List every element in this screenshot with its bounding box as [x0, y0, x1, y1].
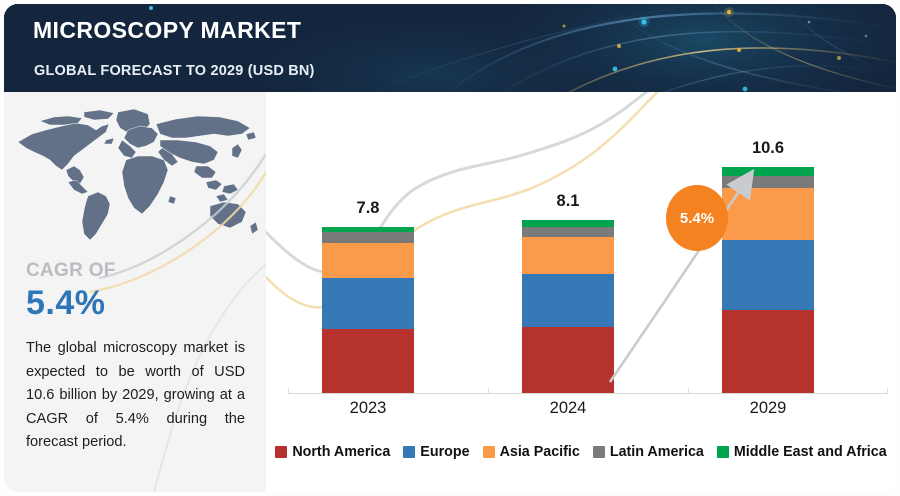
growth-arrow-icon	[266, 92, 896, 492]
legend-swatch-icon	[717, 446, 729, 458]
legend-label: Middle East and Africa	[734, 444, 887, 460]
legend-swatch-icon	[275, 446, 287, 458]
page-title: MICROSCOPY MARKET	[33, 17, 301, 44]
legend-swatch-icon	[403, 446, 415, 458]
sidebar-panel: CAGR OF 5.4% The global microscopy marke…	[4, 92, 266, 492]
page-subtitle: GLOBAL FORECAST TO 2029 (USD BN)	[34, 63, 315, 79]
legend-swatch-icon	[593, 446, 605, 458]
sidebar-description: The global microscopy market is expected…	[26, 337, 245, 455]
cagr-caption: CAGR OF	[26, 260, 116, 282]
chart-legend: North AmericaEuropeAsia PacificLatin Ame…	[266, 444, 896, 460]
infographic-page: MICROSCOPY MARKET GLOBAL FORECAST TO 202…	[0, 0, 900, 496]
legend-item-middle-east-and-africa[interactable]: Middle East and Africa	[717, 444, 887, 460]
cagr-badge: 5.4%	[666, 185, 728, 251]
legend-label: Europe	[420, 444, 469, 460]
world-map-icon	[10, 104, 262, 244]
legend-label: Latin America	[610, 444, 704, 460]
legend-item-north-america[interactable]: North America	[275, 444, 390, 460]
legend-item-asia-pacific[interactable]: Asia Pacific	[483, 444, 580, 460]
chart-panel: 7.88.110.6 202320242029 5.4% North Ameri…	[266, 92, 896, 492]
header-banner: MICROSCOPY MARKET GLOBAL FORECAST TO 202…	[4, 4, 896, 92]
legend-swatch-icon	[483, 446, 495, 458]
legend-item-latin-america[interactable]: Latin America	[593, 444, 704, 460]
legend-label: North America	[292, 444, 390, 460]
cagr-badge-label: 5.4%	[680, 210, 714, 227]
stacked-bar-chart: 7.88.110.6 202320242029 5.4%	[266, 92, 896, 492]
legend-label: Asia Pacific	[500, 444, 580, 460]
cagr-value: 5.4%	[26, 284, 106, 323]
legend-item-europe[interactable]: Europe	[403, 444, 469, 460]
